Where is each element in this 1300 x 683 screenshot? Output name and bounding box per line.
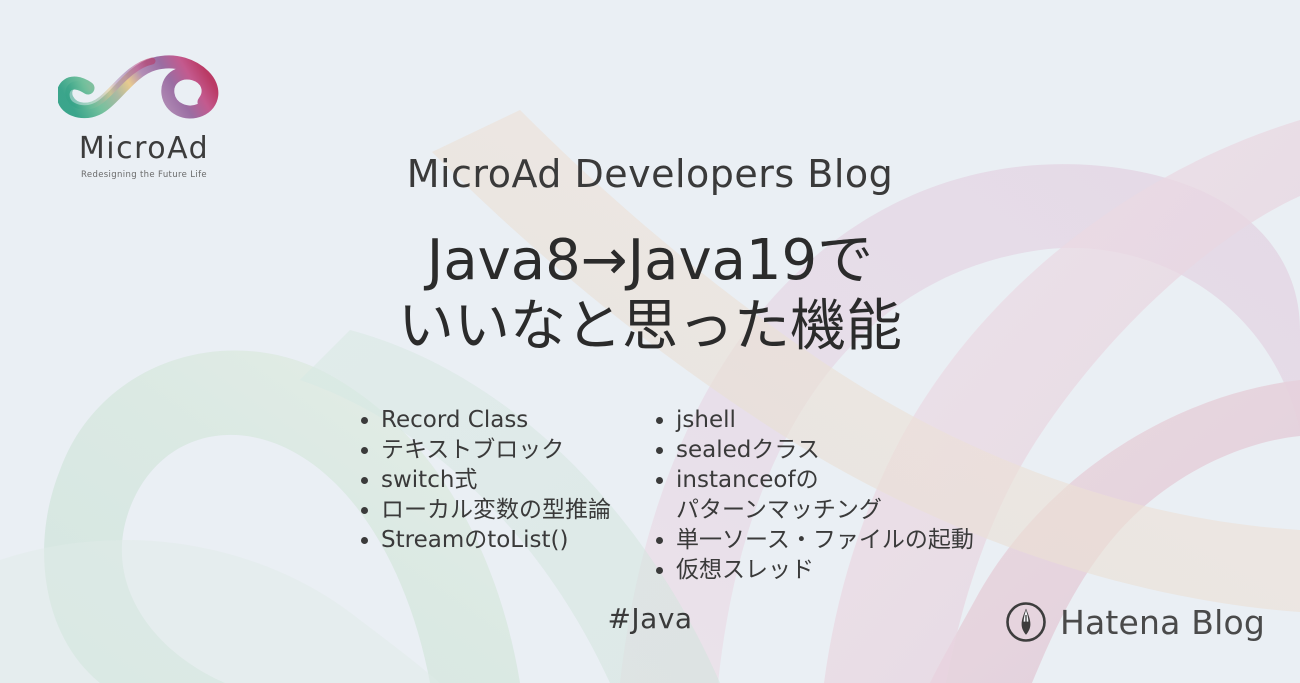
- feature-item: パターンマッチング: [650, 495, 945, 525]
- feature-item: テキストブロック: [355, 435, 650, 465]
- feature-item: jshell: [650, 405, 945, 435]
- hatena-pen-nib-circle-icon: [1005, 601, 1047, 643]
- card-content: MicroAd Developers Blog Java8→Java19で いい…: [0, 0, 1300, 683]
- feature-item: ローカル変数の型推論: [355, 495, 650, 525]
- entry-title-line-2: いいなと思った機能: [0, 294, 1300, 360]
- feature-item: 単一ソース・ファイルの起動: [650, 525, 945, 555]
- feature-item: StreamのtoList(): [355, 525, 650, 555]
- hatena-blog-wordmark: Hatena Blog: [1060, 606, 1265, 639]
- feature-list-right: jshellsealedクラスinstanceofのパターンマッチング単一ソース…: [650, 405, 945, 585]
- feature-item: Record Class: [355, 405, 650, 435]
- entry-title-line-1: Java8→Java19で: [0, 228, 1300, 294]
- feature-list-left: Record Classテキストブロックswitch式ローカル変数の型推論Str…: [355, 405, 650, 585]
- blog-og-card: MicroAd Redesigning the Future Life Micr…: [0, 0, 1300, 683]
- entry-title: Java8→Java19で いいなと思った機能: [0, 228, 1300, 360]
- feature-item: instanceofの: [650, 465, 945, 495]
- feature-bullet-columns: Record Classテキストブロックswitch式ローカル変数の型推論Str…: [0, 405, 1300, 585]
- blog-name: MicroAd Developers Blog: [0, 152, 1300, 198]
- feature-item: 仮想スレッド: [650, 555, 945, 585]
- feature-item: sealedクラス: [650, 435, 945, 465]
- hatena-blog-logo: Hatena Blog: [1005, 601, 1265, 643]
- feature-item: switch式: [355, 465, 650, 495]
